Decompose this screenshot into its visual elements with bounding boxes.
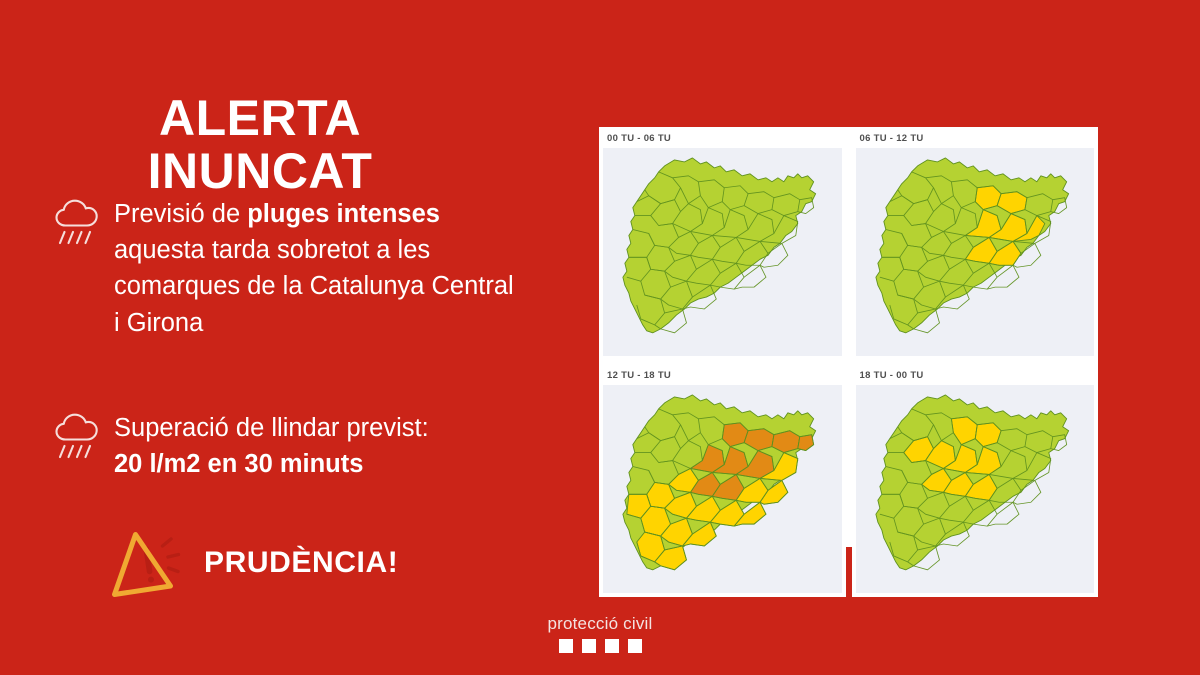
bullet-forecast-text-part1: Previsió de [114, 200, 247, 228]
bullet-threshold-line-1: Superació de llindar previst: [114, 414, 429, 442]
map-panel-label: 00 TU - 06 TU [599, 132, 846, 148]
bullet-forecast-text-part2: aquesta tarda sobretot a les comarques d… [114, 236, 514, 336]
bullet-threshold-line-2: 20 l/m2 en 30 minuts [114, 446, 429, 482]
footer-logo-squares [559, 639, 642, 653]
map-canvas-06-12 [856, 148, 1095, 357]
footer-logo: protecció civil [0, 615, 1200, 653]
bullet-forecast-text: Previsió de pluges intenses aquesta tard… [114, 196, 522, 341]
map-panel-06-12[interactable]: 06 TU - 12 TU [852, 127, 1099, 360]
footer-logo-square [628, 639, 642, 653]
map-panel-label: 06 TU - 12 TU [852, 132, 1099, 148]
headline-line-1: ALERTA [0, 92, 520, 145]
footer-logo-square [605, 639, 619, 653]
rain-cloud-icon [52, 412, 102, 464]
callout-prudencia: PRUDÈNCIA! [108, 524, 398, 602]
map-canvas-00-06 [603, 148, 842, 357]
bullet-threshold-text: Superació de llindar previst: 20 l/m2 en… [114, 410, 429, 482]
footer-logo-text: protecció civil [547, 615, 652, 632]
warning-triangle-icon [108, 524, 190, 602]
rain-cloud-icon [52, 198, 102, 250]
bullet-forecast: Previsió de pluges intenses aquesta tard… [52, 196, 522, 341]
map-panel-00-06[interactable]: 00 TU - 06 TU [599, 127, 846, 360]
bullet-forecast-text-bold: pluges intenses [247, 200, 440, 228]
alert-poster: ALERTA INUNCAT Previsió de pluges intens… [0, 0, 1200, 675]
left-content-column: ALERTA INUNCAT Previsió de pluges intens… [0, 0, 570, 675]
map-panel-label: 12 TU - 18 TU [599, 369, 846, 385]
map-canvas-12-18 [603, 385, 842, 594]
footer-logo-square [582, 639, 596, 653]
map-canvas-18-00 [856, 385, 1095, 594]
page-title: ALERTA INUNCAT [0, 92, 520, 198]
forecast-map-grid: 00 TU - 06 TU [599, 127, 1098, 547]
footer-logo-square [559, 639, 573, 653]
map-panel-18-00[interactable]: 18 TU - 00 TU [852, 364, 1099, 597]
map-panel-label: 18 TU - 00 TU [852, 369, 1099, 385]
map-panel-12-18[interactable]: 12 TU - 18 TU [599, 364, 846, 597]
bullet-threshold: Superació de llindar previst: 20 l/m2 en… [52, 410, 522, 482]
callout-prudencia-label: PRUDÈNCIA! [204, 546, 398, 580]
headline-line-2: INUNCAT [0, 145, 520, 198]
